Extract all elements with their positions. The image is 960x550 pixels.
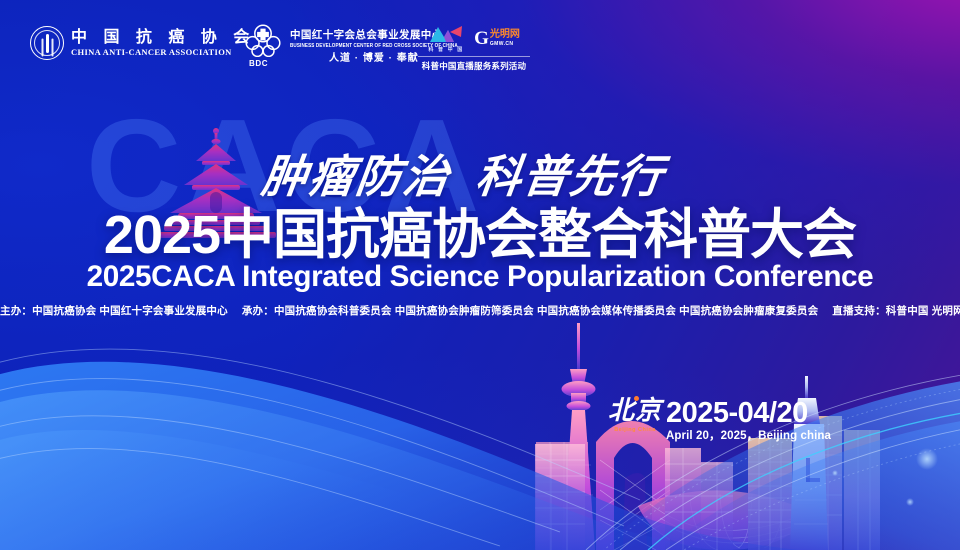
event-date-en: April 20，2025，Beijing china	[666, 429, 831, 443]
glow-dot-2	[906, 498, 914, 506]
gmw-logo: G 光明网 GMW.CN	[474, 30, 520, 47]
slogan-part-1: 肿瘤防治	[259, 150, 454, 203]
gmw-letter-g: G	[474, 30, 489, 47]
glow-dot-3	[832, 470, 838, 476]
gmw-label-en: GMW.CN	[490, 41, 514, 47]
slogan-part-2: 科普先行	[473, 150, 668, 203]
city-accent-dot	[634, 396, 639, 401]
gmw-label-cn: 光明网	[490, 30, 520, 40]
logo-china-anti-cancer-association: 中 国 抗 癌 协 会 CHINA ANTI-CANCER ASSOCIATIO…	[30, 26, 255, 60]
caca-seal-icon	[30, 26, 64, 60]
logo-bar: 中 国 抗 癌 协 会 CHINA ANTI-CANCER ASSOCIATIO…	[0, 22, 960, 84]
kepu-sail-icon	[428, 24, 464, 44]
hero-slogan: 肿瘤防治科普先行	[258, 148, 715, 208]
event-date: 2025-04/20	[666, 398, 831, 428]
red-cross-flower-icon	[245, 24, 281, 57]
conference-poster: CACA 中 国 抗 癌 协 会 CHINA ANTI-CANCER ASSOC…	[0, 0, 960, 550]
city-name-en: Beijing China	[614, 427, 656, 433]
glow-dot-1	[916, 448, 938, 470]
date-block: 北京 Beijing China 2025-04/20 April 20，202…	[608, 398, 831, 443]
logo-kepu-gmw: 科 普 中 国 G 光明网 GMW.CN 科普中国直播服务系列活动	[418, 24, 530, 72]
kepu-china-label: 科 普 中 国	[428, 46, 463, 53]
city-name-cn: 北京	[608, 398, 662, 424]
caca-logo-cn: 中 国 抗 癌 协 会	[71, 30, 255, 46]
caca-logo-en: CHINA ANTI-CANCER ASSOCIATION	[71, 48, 255, 57]
bdc-abbr: BDC	[249, 59, 268, 68]
logo-divider	[418, 56, 530, 57]
kepu-livestream-label: 科普中国直播服务系列活动	[422, 60, 526, 72]
